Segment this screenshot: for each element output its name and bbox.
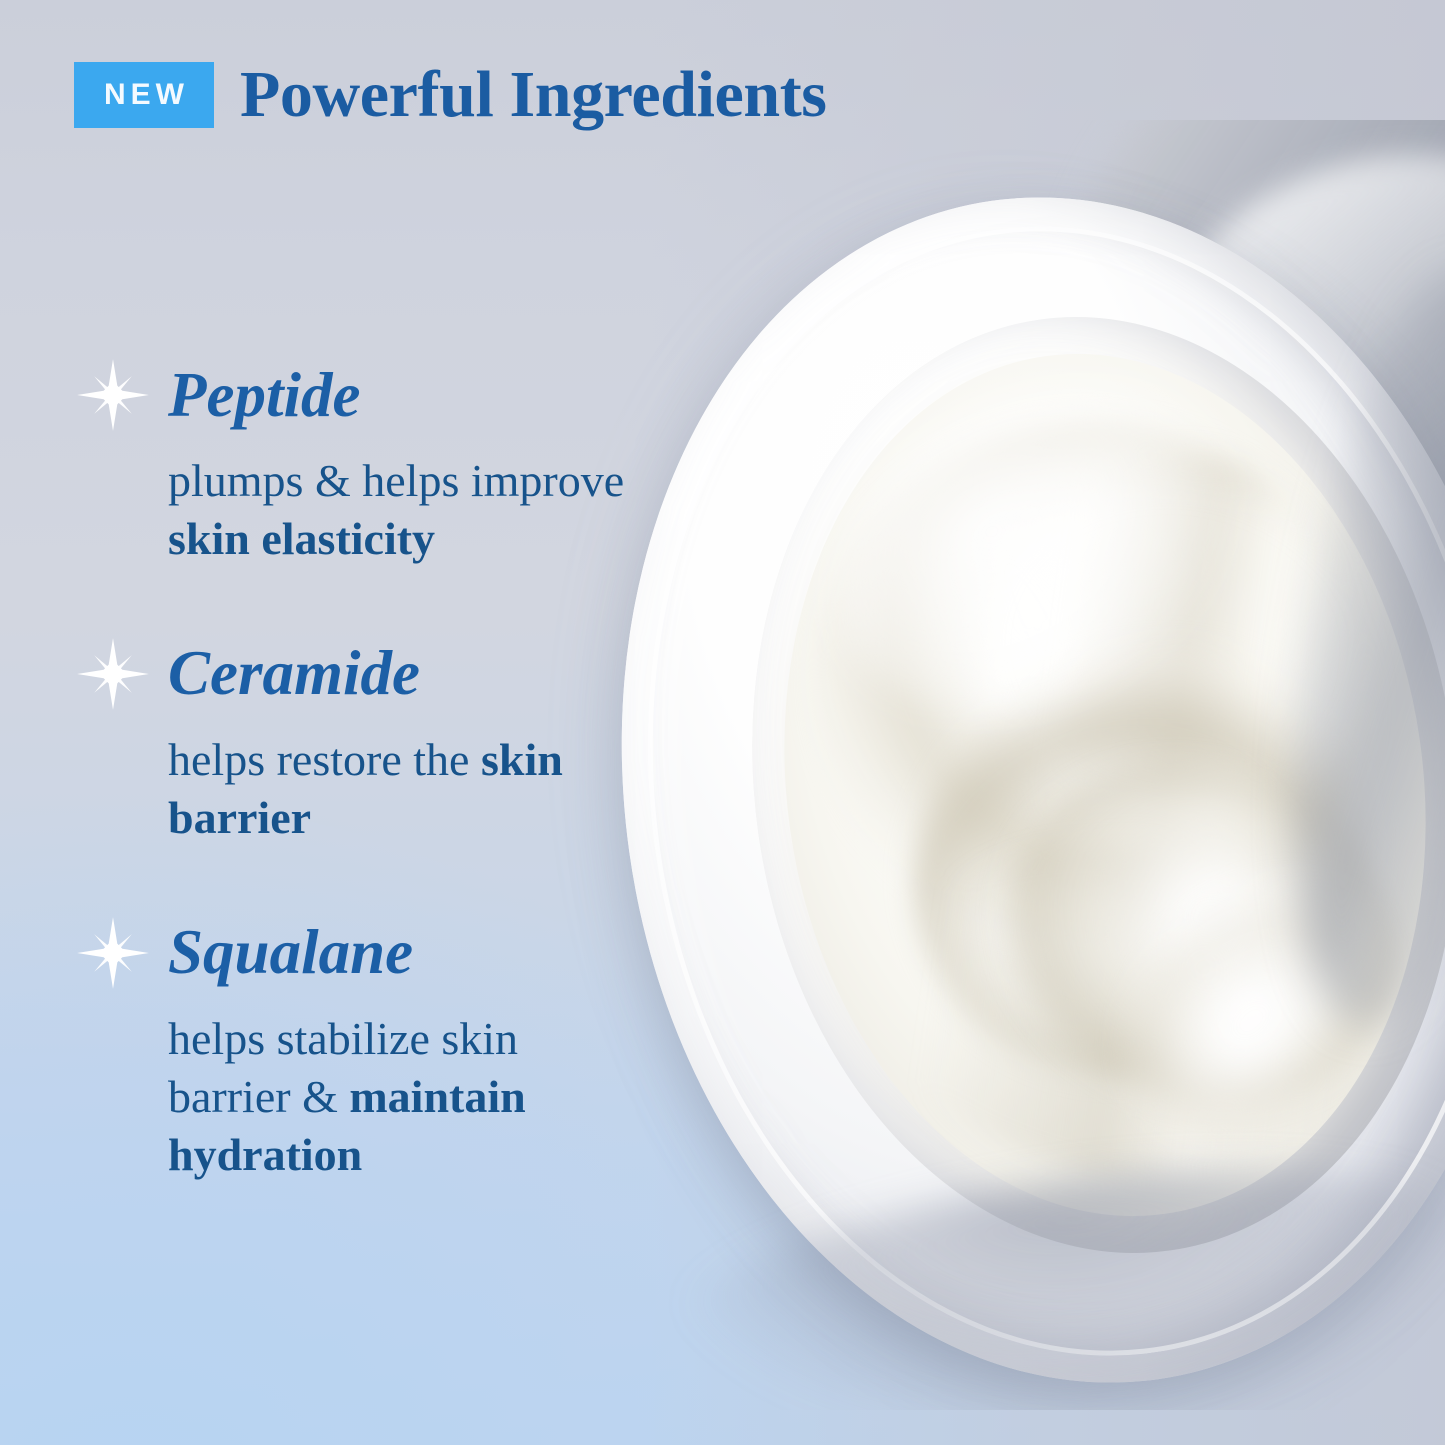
sparkle-icon bbox=[74, 635, 152, 713]
ingredient-item: Ceramide helps restore the skin barrier bbox=[74, 635, 694, 848]
page-title: Powerful Ingredients bbox=[240, 62, 827, 128]
ingredient-name: Squalane bbox=[168, 921, 413, 984]
ingredient-name: Peptide bbox=[168, 364, 360, 427]
ingredient-heading-row: Squalane bbox=[74, 914, 694, 992]
ingredient-description: plumps & helps improve skin elasticity bbox=[168, 452, 658, 569]
ingredient-desc-bold: skin elasticity bbox=[168, 513, 435, 564]
ingredient-item: Peptide plumps & helps improve skin elas… bbox=[74, 356, 694, 569]
ingredient-name: Ceramide bbox=[168, 642, 420, 705]
sparkle-icon bbox=[74, 914, 152, 992]
ingredient-desc-regular: plumps & helps improve bbox=[168, 455, 624, 506]
ingredient-description: helps stabilize skin barrier & maintain … bbox=[168, 1010, 598, 1185]
sparkle-icon bbox=[74, 356, 152, 434]
ingredient-list: Peptide plumps & helps improve skin elas… bbox=[74, 356, 694, 1241]
ingredient-desc-regular: helps restore the bbox=[168, 734, 481, 785]
ingredient-heading-row: Ceramide bbox=[74, 635, 694, 713]
new-badge: NEW bbox=[74, 62, 214, 128]
ingredient-item: Squalane helps stabilize skin barrier & … bbox=[74, 914, 694, 1185]
ingredient-heading-row: Peptide bbox=[74, 356, 694, 434]
header: NEW Powerful Ingredients bbox=[74, 62, 827, 128]
promo-graphic: NEW Powerful Ingredients Peptide plumps … bbox=[0, 0, 1445, 1445]
ingredient-description: helps restore the skin barrier bbox=[168, 731, 658, 848]
